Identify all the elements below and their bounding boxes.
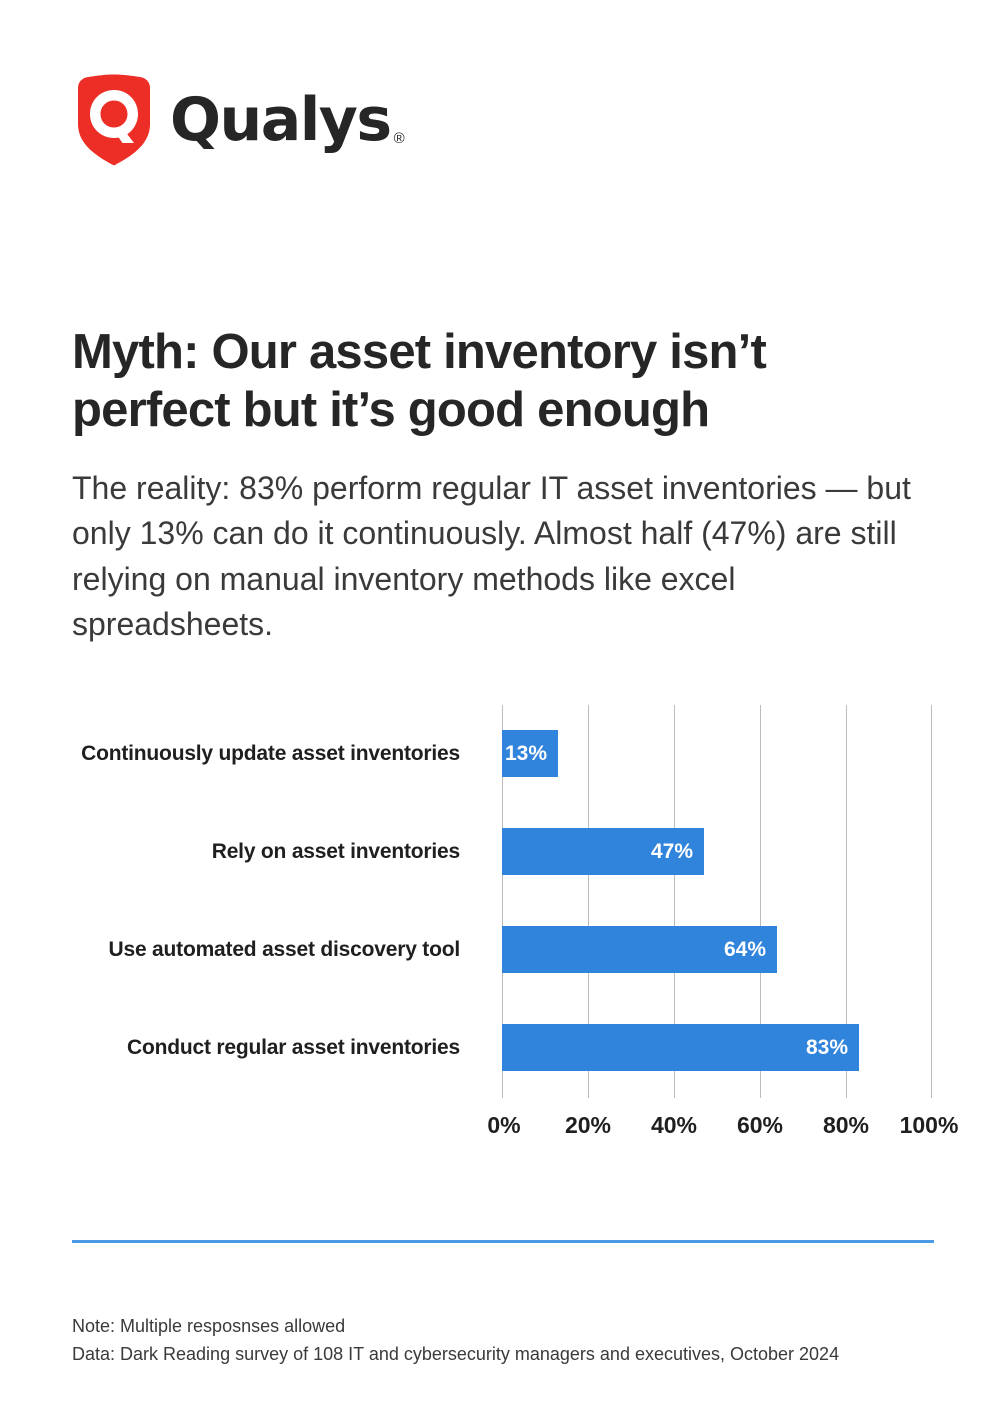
bar-chart: Continuously update asset inventories 13… <box>0 700 1006 1160</box>
bar-fill: 83% <box>502 1024 859 1071</box>
bar-value-label: 83% <box>806 1036 859 1060</box>
bar-row: Rely on asset inventories 47% <box>0 803 1006 901</box>
bar-value-label: 13% <box>505 742 558 766</box>
bar-track: 47% <box>502 828 932 875</box>
x-axis: 0% 20% 40% 60% 80% 100% <box>502 1112 932 1152</box>
bar-track: 64% <box>502 926 932 973</box>
registered-mark: ® <box>394 131 405 146</box>
bar-value-label: 47% <box>651 840 704 864</box>
qualys-wordmark: Qualys ® <box>170 90 405 150</box>
page-title: Myth: Our asset inventory isn’t perfect … <box>72 324 902 440</box>
bar-fill: 13% <box>502 730 558 777</box>
footer-divider <box>72 1240 934 1243</box>
qualys-logo: Qualys ® <box>72 74 405 166</box>
footer-note: Note: Multiple resposnses allowed <box>72 1313 952 1341</box>
footer-notes: Note: Multiple resposnses allowed Data: … <box>72 1313 952 1369</box>
x-tick-label: 20% <box>565 1112 611 1139</box>
bar-category-label: Use automated asset discovery tool <box>0 938 460 962</box>
bar-category-label: Continuously update asset inventories <box>0 742 460 766</box>
page-subtitle: The reality: 83% perform regular IT asse… <box>72 466 942 648</box>
bar-row: Continuously update asset inventories 13… <box>0 705 1006 803</box>
bar-fill: 64% <box>502 926 777 973</box>
footer-data-source: Data: Dark Reading survey of 108 IT and … <box>72 1341 952 1369</box>
bar-track: 83% <box>502 1024 932 1071</box>
x-tick-label: 0% <box>487 1112 520 1139</box>
bar-value-label: 64% <box>724 938 777 962</box>
bar-row: Use automated asset discovery tool 64% <box>0 901 1006 999</box>
brand-name: Qualys <box>170 90 391 150</box>
x-tick-label: 40% <box>651 1112 697 1139</box>
x-tick-label: 100% <box>900 1112 959 1139</box>
x-tick-label: 80% <box>823 1112 869 1139</box>
bar-category-label: Conduct regular asset inventories <box>0 1036 460 1060</box>
bar-fill: 47% <box>502 828 704 875</box>
qualys-shield-q-icon <box>72 74 156 166</box>
chart-bars: Continuously update asset inventories 13… <box>0 705 1006 1098</box>
bar-category-label: Rely on asset inventories <box>0 840 460 864</box>
bar-row: Conduct regular asset inventories 83% <box>0 999 1006 1097</box>
x-tick-label: 60% <box>737 1112 783 1139</box>
bar-track: 13% <box>502 730 932 777</box>
